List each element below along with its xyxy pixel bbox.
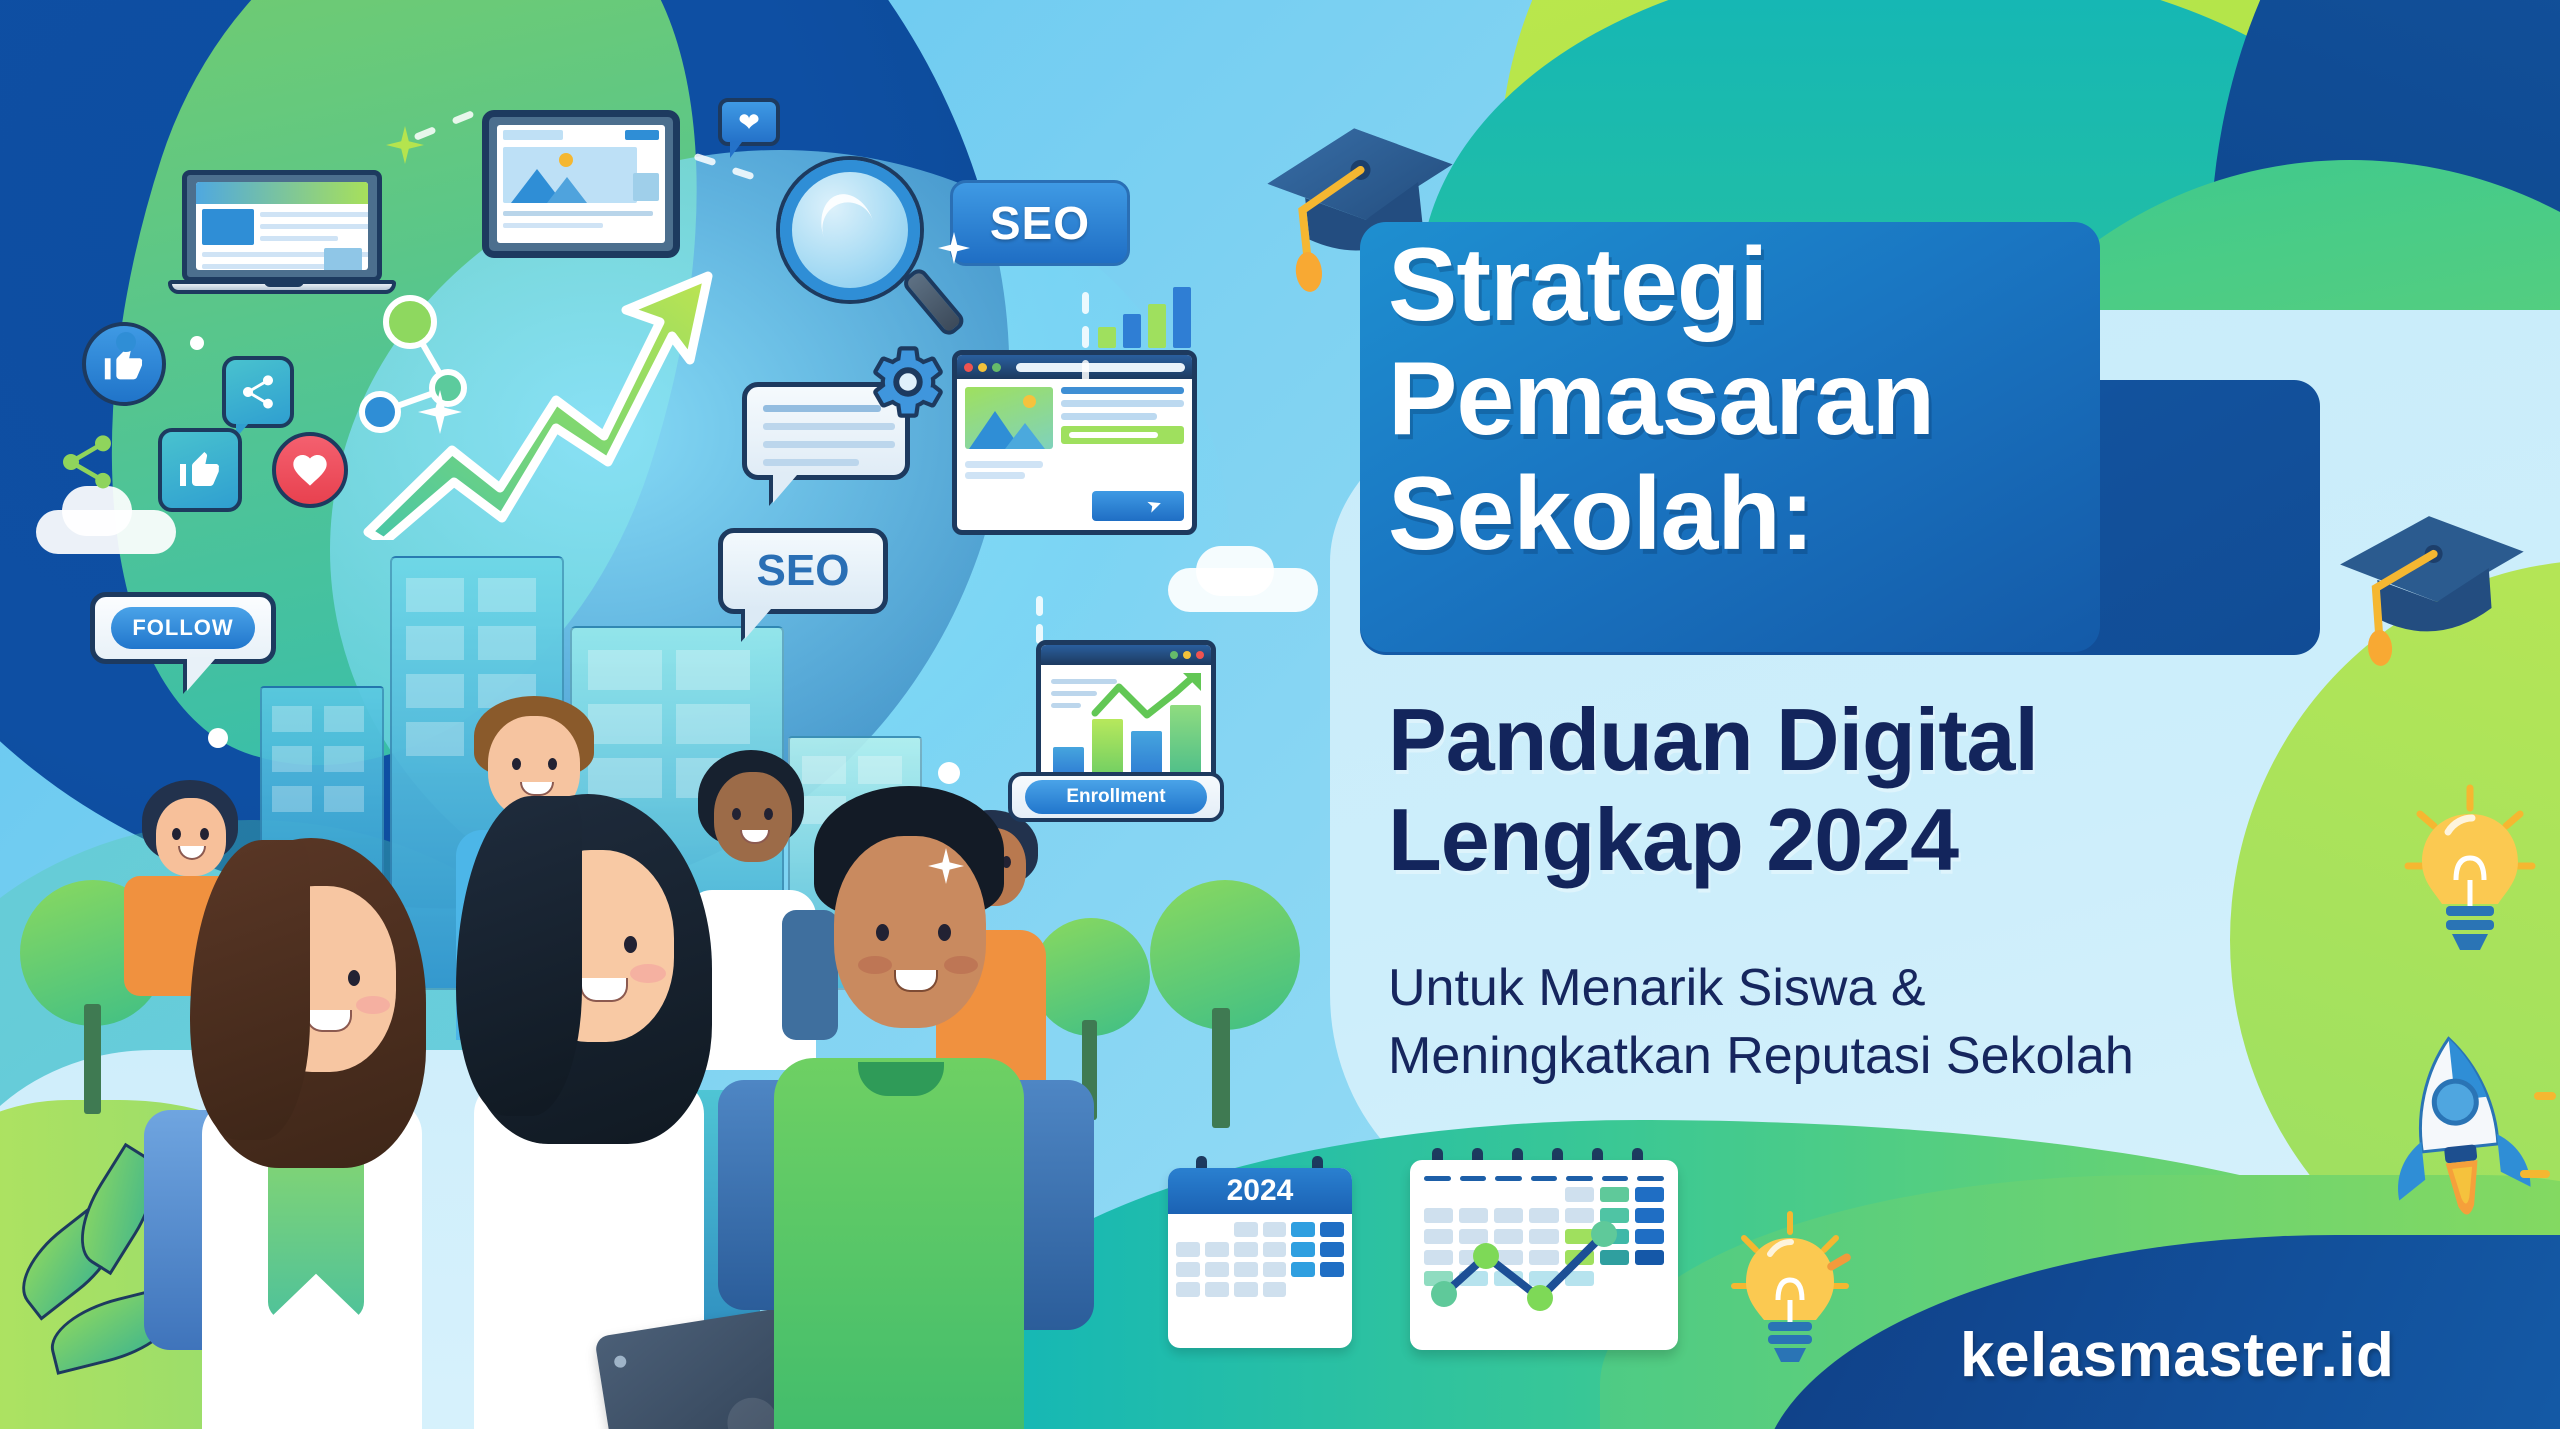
calendar-chart-icon bbox=[1410, 1160, 1678, 1350]
subtitle-line-1: Panduan Digital bbox=[1388, 690, 2468, 790]
page-title: Strategi Pemasaran Sekolah: bbox=[1388, 228, 2408, 571]
tree-trunk bbox=[1212, 1008, 1230, 1128]
lightbulb-icon bbox=[1728, 1208, 1852, 1372]
enrollment-chart-card bbox=[1036, 640, 1216, 790]
page-tagline: Untuk Menarik Siswa & Meningkatkan Reput… bbox=[1388, 955, 2468, 1090]
page-subtitle: Panduan Digital Lengkap 2024 bbox=[1388, 690, 2468, 891]
spark-shape bbox=[2520, 1170, 2550, 1178]
mini-bar-chart bbox=[1098, 282, 1208, 348]
search-magnifier-icon bbox=[780, 160, 970, 350]
title-line-3: Sekolah: bbox=[1388, 457, 2408, 571]
title-line-2: Pemasaran bbox=[1388, 342, 2408, 456]
dashed-line bbox=[1082, 292, 1089, 314]
network-nodes-icon bbox=[352, 290, 572, 480]
share-icon bbox=[52, 430, 122, 494]
gear-icon bbox=[866, 340, 950, 424]
dashed-line bbox=[1036, 596, 1043, 616]
calendar-year-label: 2024 bbox=[1227, 1174, 1294, 1208]
heart-bubble-icon: ❤ bbox=[718, 98, 780, 146]
students-illustration bbox=[30, 720, 1150, 1429]
heart-icon: ❤ bbox=[722, 102, 776, 142]
cloud-shape bbox=[1196, 546, 1274, 596]
tablet-icon bbox=[482, 110, 680, 258]
subtitle-line-2: Lengkap 2024 bbox=[1388, 790, 2468, 890]
seo-badge-bubble-label: SEO bbox=[757, 546, 850, 596]
enrollment-badge: Enrollment bbox=[1008, 772, 1224, 822]
marketing-banner: ❤ SEO bbox=[0, 0, 2560, 1429]
thumbs-up-icon bbox=[158, 428, 242, 512]
laptop-icon bbox=[182, 170, 382, 305]
seo-badge-large: SEO bbox=[950, 180, 1130, 266]
spark-shape bbox=[2534, 1092, 2556, 1100]
heart-icon bbox=[272, 432, 348, 508]
tagline-line-1: Untuk Menarik Siswa & bbox=[1388, 955, 2468, 1023]
dot-shape bbox=[938, 762, 960, 784]
follow-badge-label: FOLLOW bbox=[132, 615, 233, 641]
browser-window-icon: ➤ bbox=[952, 350, 1197, 535]
dot-shape bbox=[116, 332, 136, 352]
tagline-line-2: Meningkatkan Reputasi Sekolah bbox=[1388, 1023, 2468, 1091]
brand-url: kelasmaster.id bbox=[1960, 1320, 2394, 1391]
dot-shape bbox=[208, 728, 228, 748]
calendar-icon: 2024 bbox=[1168, 1168, 1352, 1348]
title-line-1: Strategi bbox=[1388, 228, 2408, 342]
seo-badge-bubble: SEO bbox=[718, 528, 888, 614]
enrollment-badge-label: Enrollment bbox=[1066, 786, 1165, 808]
follow-badge: FOLLOW bbox=[90, 592, 276, 664]
seo-badge-large-label: SEO bbox=[990, 196, 1090, 250]
dashed-line bbox=[1082, 360, 1089, 382]
calendar-trend-line bbox=[1428, 1212, 1660, 1322]
dot-shape bbox=[190, 336, 204, 350]
student-front-right bbox=[730, 780, 1090, 1429]
dashed-line bbox=[1082, 326, 1089, 348]
share-icon bbox=[222, 356, 294, 428]
